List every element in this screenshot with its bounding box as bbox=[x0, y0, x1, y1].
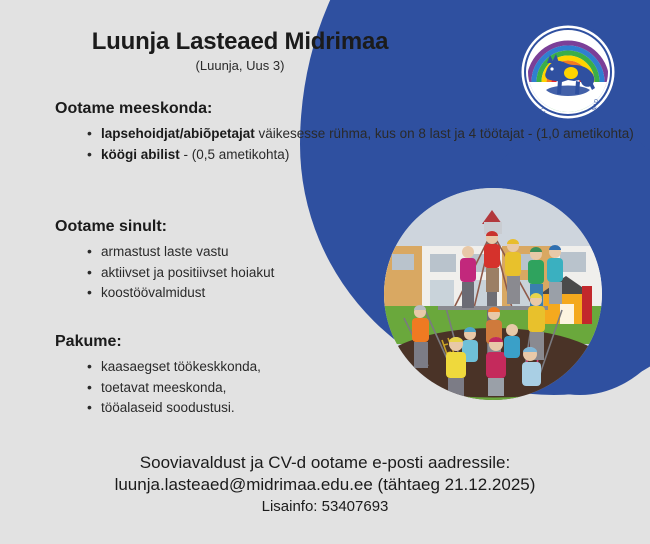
page-title: Luunja Lasteaed Midrimaa bbox=[0, 28, 480, 56]
list-item-emphasis: lapsehoidjat/abiõpetajat bbox=[101, 126, 255, 141]
list-item-text: - (0,5 ametikohta) bbox=[180, 147, 290, 162]
playground-photo bbox=[384, 188, 602, 400]
list-item-emphasis: köögi abilist bbox=[101, 147, 180, 162]
list-item: lapsehoidjat/abiõpetajat väikesesse rühm… bbox=[101, 124, 634, 144]
section-heading-offer: Pakume: bbox=[55, 333, 261, 351]
list-item-text: kaasaegset töökeskkonda, bbox=[101, 359, 261, 374]
section-ootame-sinult: Ootame sinult: armastust laste vastu akt… bbox=[55, 218, 274, 304]
list-item: armastust laste vastu bbox=[101, 242, 274, 262]
footer-phone: Lisainfo: 53407693 bbox=[0, 497, 650, 517]
section-heading-expect: Ootame sinult: bbox=[55, 218, 274, 236]
list-item-text: tööalaseid soodustusi. bbox=[101, 400, 235, 415]
list-item: toetavat meeskonda, bbox=[101, 378, 261, 398]
list-item: kaasaegset töökeskkonda, bbox=[101, 357, 261, 377]
job-advert-poster: LUUNJA LASTEAED MIDRIMAA bbox=[0, 0, 650, 544]
contact-footer: Sooviavaldust ja CV-d ootame e-posti aad… bbox=[0, 452, 650, 517]
list-item-text: väikesesse rühma, kus on 8 last ja 4 töö… bbox=[255, 126, 634, 141]
list-item: köögi abilist - (0,5 ametikohta) bbox=[101, 145, 634, 165]
list-item-text: koostöövalmidust bbox=[101, 285, 205, 300]
footer-instruction: Sooviavaldust ja CV-d ootame e-posti aad… bbox=[0, 452, 650, 474]
organization-logo: LUUNJA LASTEAED MIDRIMAA bbox=[516, 20, 620, 124]
section-pakume: Pakume: kaasaegset töökeskkonda, toetava… bbox=[55, 333, 261, 419]
footer-email-deadline[interactable]: luunja.lasteaed@midrimaa.edu.ee (tähtaeg… bbox=[0, 474, 650, 496]
list-item-text: aktiivset ja positiivset hoiakut bbox=[101, 265, 274, 280]
list-item: koostöövalmidust bbox=[101, 283, 274, 303]
list-item-text: armastust laste vastu bbox=[101, 244, 229, 259]
bullet-list-team: lapsehoidjat/abiõpetajat väikesesse rühm… bbox=[55, 124, 634, 166]
bullet-list-offer: kaasaegset töökeskkonda, toetavat meesko… bbox=[55, 357, 261, 418]
bullet-list-expect: armastust laste vastu aktiivset ja posit… bbox=[55, 242, 274, 303]
list-item: tööalaseid soodustusi. bbox=[101, 398, 261, 418]
page-subtitle: (Luunja, Uus 3) bbox=[0, 58, 480, 73]
list-item: aktiivset ja positiivset hoiakut bbox=[101, 263, 274, 283]
list-item-text: toetavat meeskonda, bbox=[101, 380, 226, 395]
